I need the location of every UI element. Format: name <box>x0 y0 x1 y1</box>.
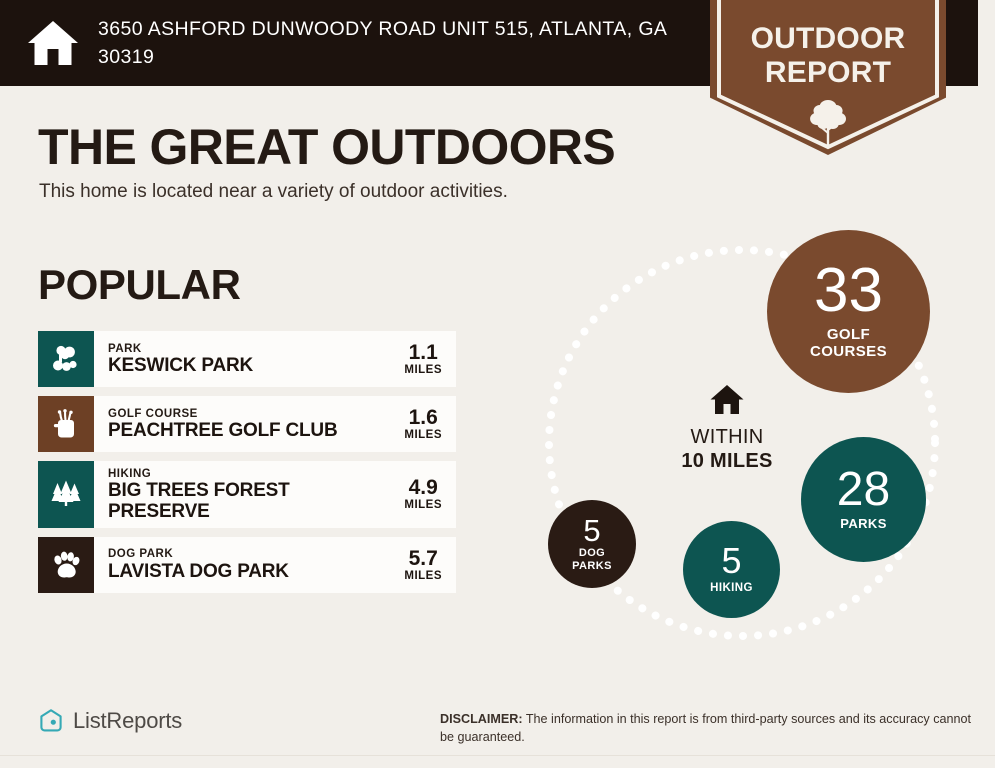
list-item-category: GOLF COURSE <box>108 407 337 421</box>
bubble-golf-courses[interactable]: 33 GOLF COURSES <box>767 230 930 393</box>
logo-text: ListReports <box>73 708 182 734</box>
bubble-label-line1: DOG <box>572 547 612 559</box>
center-miles-label: 10 MILES <box>662 450 792 474</box>
bubble-hiking[interactable]: 5 HIKING <box>683 521 780 618</box>
distance-unit: MILES <box>404 499 442 511</box>
list-item-body: HIKING BIG TREES FOREST PRESERVE 4.9 MIL… <box>94 461 456 528</box>
list-item-category: HIKING <box>108 467 360 481</box>
list-item-distance: 1.1 MILES <box>404 342 446 376</box>
badge-title-line2: REPORT <box>710 56 946 90</box>
list-item-text: HIKING BIG TREES FOREST PRESERVE <box>108 467 360 522</box>
bubble-value: 5 <box>583 516 600 545</box>
bubble-label: HIKING <box>710 582 753 595</box>
park-trees-icon <box>49 342 83 376</box>
badge-title-line1: OUTDOOR <box>710 22 946 56</box>
disclaimer: DISCLAIMER: The information in this repo… <box>440 711 980 747</box>
list-item-category: PARK <box>108 342 253 356</box>
list-item-body: DOG PARK LAVISTA DOG PARK 5.7 MILES <box>94 537 456 593</box>
bubble-dog-parks[interactable]: 5 DOG PARKS <box>548 500 636 588</box>
bubble-label: GOLF COURSES <box>810 327 887 361</box>
list-item-body: PARK KESWICK PARK 1.1 MILES <box>94 331 456 387</box>
header-address-block: 3650 ASHFORD DUNWOODY ROAD UNIT 515, ATL… <box>26 16 706 71</box>
distance-unit: MILES <box>404 364 442 376</box>
tree-icon <box>806 98 850 146</box>
page-title: THE GREAT OUTDOORS <box>38 122 615 172</box>
list-item-category: DOG PARK <box>108 547 289 561</box>
list-item[interactable]: DOG PARK LAVISTA DOG PARK 5.7 MILES <box>38 537 456 593</box>
park-trees-icon-tile <box>38 331 94 387</box>
paw-print-icon <box>49 548 83 582</box>
disclaimer-label: DISCLAIMER: <box>440 712 523 726</box>
page-subtitle: This home is located near a variety of o… <box>39 181 508 203</box>
chart-center-label: WITHIN 10 MILES <box>662 383 792 473</box>
list-item-name: LAVISTA DOG PARK <box>108 562 289 582</box>
list-item-distance: 4.9 MILES <box>404 477 446 511</box>
within-10-miles-bubble-chart: 33 GOLF COURSES 28 PARKS 5 HIKING 5 DOG … <box>520 225 990 665</box>
list-item-text: PARK KESWICK PARK <box>108 342 253 377</box>
list-item[interactable]: GOLF COURSE PEACHTREE GOLF CLUB 1.6 MILE… <box>38 396 456 452</box>
listreports-house-icon <box>38 708 64 734</box>
footer-divider <box>0 755 995 756</box>
paw-print-icon-tile <box>38 537 94 593</box>
bubble-label-line1: GOLF <box>810 327 887 344</box>
center-within-label: WITHIN <box>662 426 792 450</box>
list-item-name: BIG TREES FOREST PRESERVE <box>108 481 360 521</box>
bubble-label-line2: PARKS <box>572 560 612 572</box>
home-icon <box>26 18 80 68</box>
distance-unit: MILES <box>404 570 442 582</box>
outdoor-report-page: 3650 ASHFORD DUNWOODY ROAD UNIT 515, ATL… <box>0 0 995 768</box>
list-item-distance: 5.7 MILES <box>404 548 446 582</box>
bubble-value: 33 <box>814 262 883 321</box>
golf-bag-icon <box>49 407 83 441</box>
golf-bag-icon-tile <box>38 396 94 452</box>
pine-trees-icon-tile <box>38 461 94 528</box>
list-item-name: PEACHTREE GOLF CLUB <box>108 421 337 441</box>
distance-unit: MILES <box>404 429 442 441</box>
distance-value: 4.9 <box>404 477 442 499</box>
bubble-parks[interactable]: 28 PARKS <box>801 437 926 562</box>
listreports-logo[interactable]: ListReports <box>38 708 182 734</box>
bubble-value: 28 <box>837 467 890 513</box>
outdoor-report-badge: OUTDOOR REPORT <box>710 0 946 155</box>
popular-heading: POPULAR <box>38 264 241 306</box>
list-item-distance: 1.6 MILES <box>404 407 446 441</box>
list-item-text: GOLF COURSE PEACHTREE GOLF CLUB <box>108 407 337 442</box>
bubble-label: PARKS <box>840 517 887 532</box>
home-icon <box>709 383 745 416</box>
bubble-value: 5 <box>721 544 741 578</box>
bubble-label-line2: COURSES <box>810 344 887 361</box>
distance-value: 1.1 <box>404 342 442 364</box>
distance-value: 1.6 <box>404 407 442 429</box>
list-item[interactable]: PARK KESWICK PARK 1.1 MILES <box>38 331 456 387</box>
list-item[interactable]: HIKING BIG TREES FOREST PRESERVE 4.9 MIL… <box>38 461 456 528</box>
list-item-text: DOG PARK LAVISTA DOG PARK <box>108 547 289 582</box>
list-item-body: GOLF COURSE PEACHTREE GOLF CLUB 1.6 MILE… <box>94 396 456 452</box>
bubble-label: DOG PARKS <box>572 547 612 572</box>
pine-trees-icon <box>49 477 83 511</box>
property-address: 3650 ASHFORD DUNWOODY ROAD UNIT 515, ATL… <box>98 16 706 71</box>
distance-value: 5.7 <box>404 548 442 570</box>
popular-list: PARK KESWICK PARK 1.1 MILES <box>38 331 456 602</box>
badge-title: OUTDOOR REPORT <box>710 22 946 90</box>
list-item-name: KESWICK PARK <box>108 356 253 376</box>
